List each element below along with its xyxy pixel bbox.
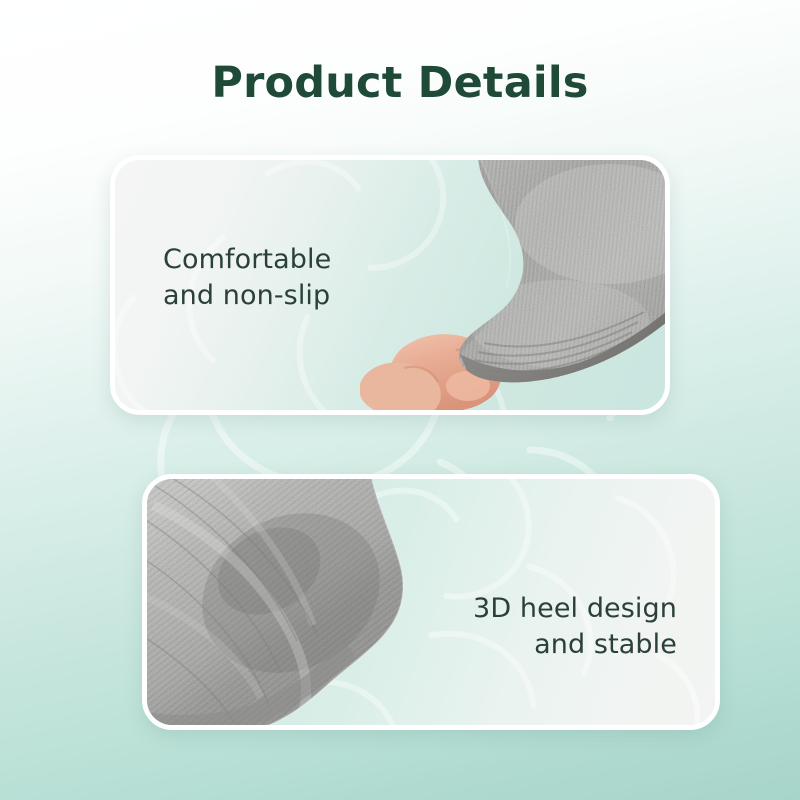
product-details-page: Product Details xyxy=(0,0,800,800)
detail-card-comfortable[interactable]: Comfortable and non-slip xyxy=(110,155,670,415)
card-caption: 3D heel design and stable xyxy=(473,591,677,663)
card-caption: Comfortable and non-slip xyxy=(163,242,331,314)
page-title: Product Details xyxy=(0,58,800,108)
detail-card-heel[interactable]: 3D heel design and stable xyxy=(142,474,720,730)
